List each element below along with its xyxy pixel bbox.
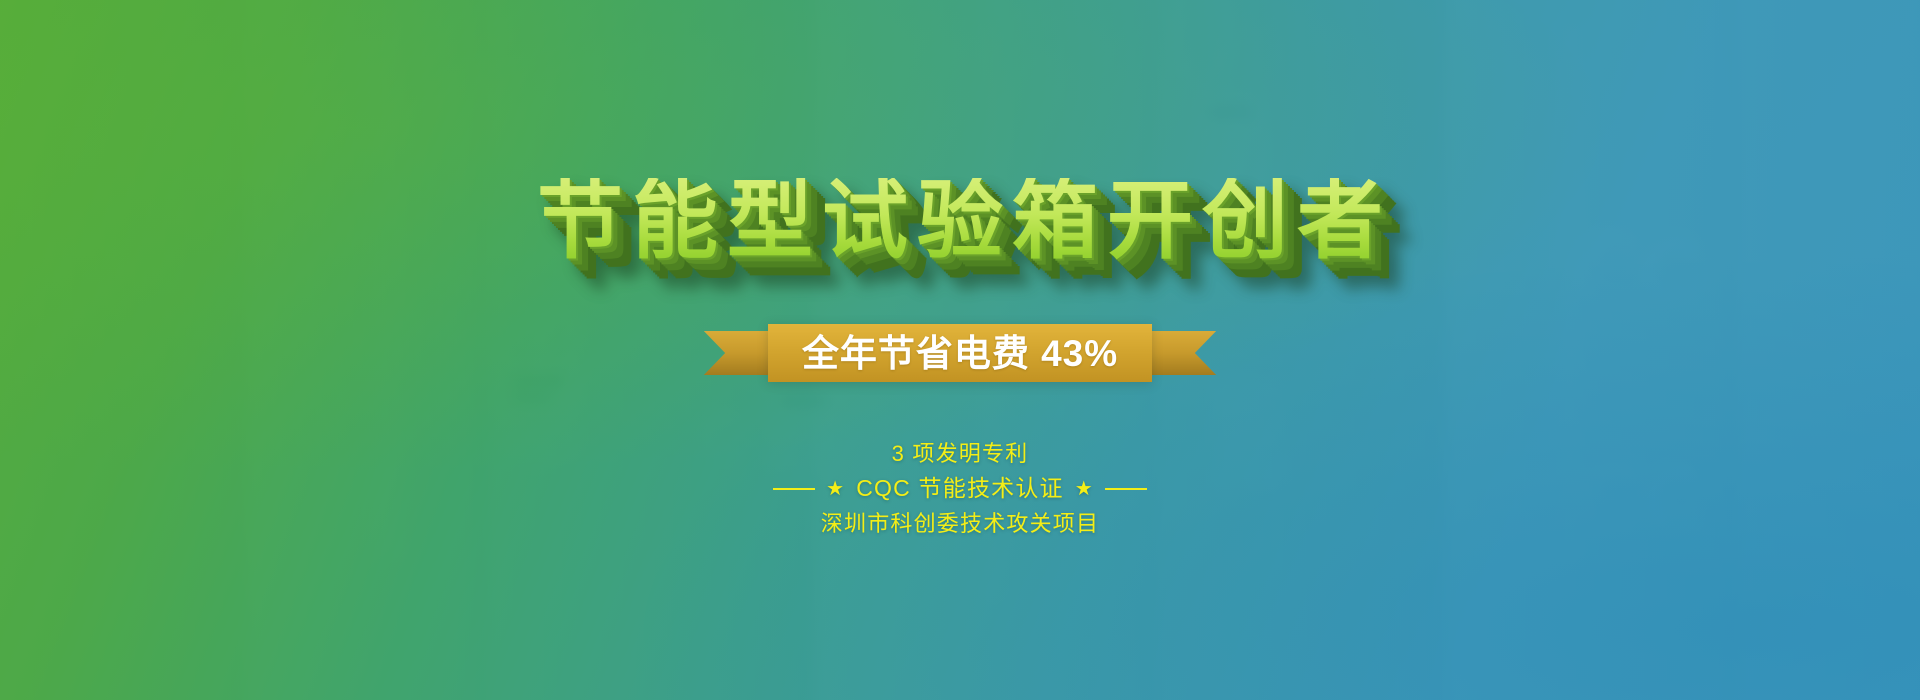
credential-project: 深圳市科创委技术攻关项目 [773,507,1147,541]
savings-ribbon: 全年节省电费 43% [768,324,1152,382]
credential-patents: 3 项发明专利 [773,437,1147,471]
dash-right-icon [1105,488,1147,490]
credential-cqc: ★ CQC 节能技术认证 ★ [773,471,1147,507]
banner-content: 节能型试验箱开创者 全年节省电费 43% 3 项发明专利 ★ CQC 节能技术认… [0,0,1920,700]
credentials-block: 3 项发明专利 ★ CQC 节能技术认证 ★ 深圳市科创委技术攻关项目 [773,437,1147,541]
star-right-icon: ★ [1075,479,1094,499]
ribbon-label: 全年节省电费 43% [802,335,1118,372]
page-title: 节能型试验箱开创者 [528,178,1392,264]
promo-banner: 节能型试验箱开创者 全年节省电费 43% 3 项发明专利 ★ CQC 节能技术认… [0,0,1920,700]
star-left-icon: ★ [826,479,845,499]
credential-cqc-label: CQC 节能技术认证 [856,471,1064,507]
dash-left-icon [773,488,815,490]
ribbon-body: 全年节省电费 43% [768,324,1152,382]
